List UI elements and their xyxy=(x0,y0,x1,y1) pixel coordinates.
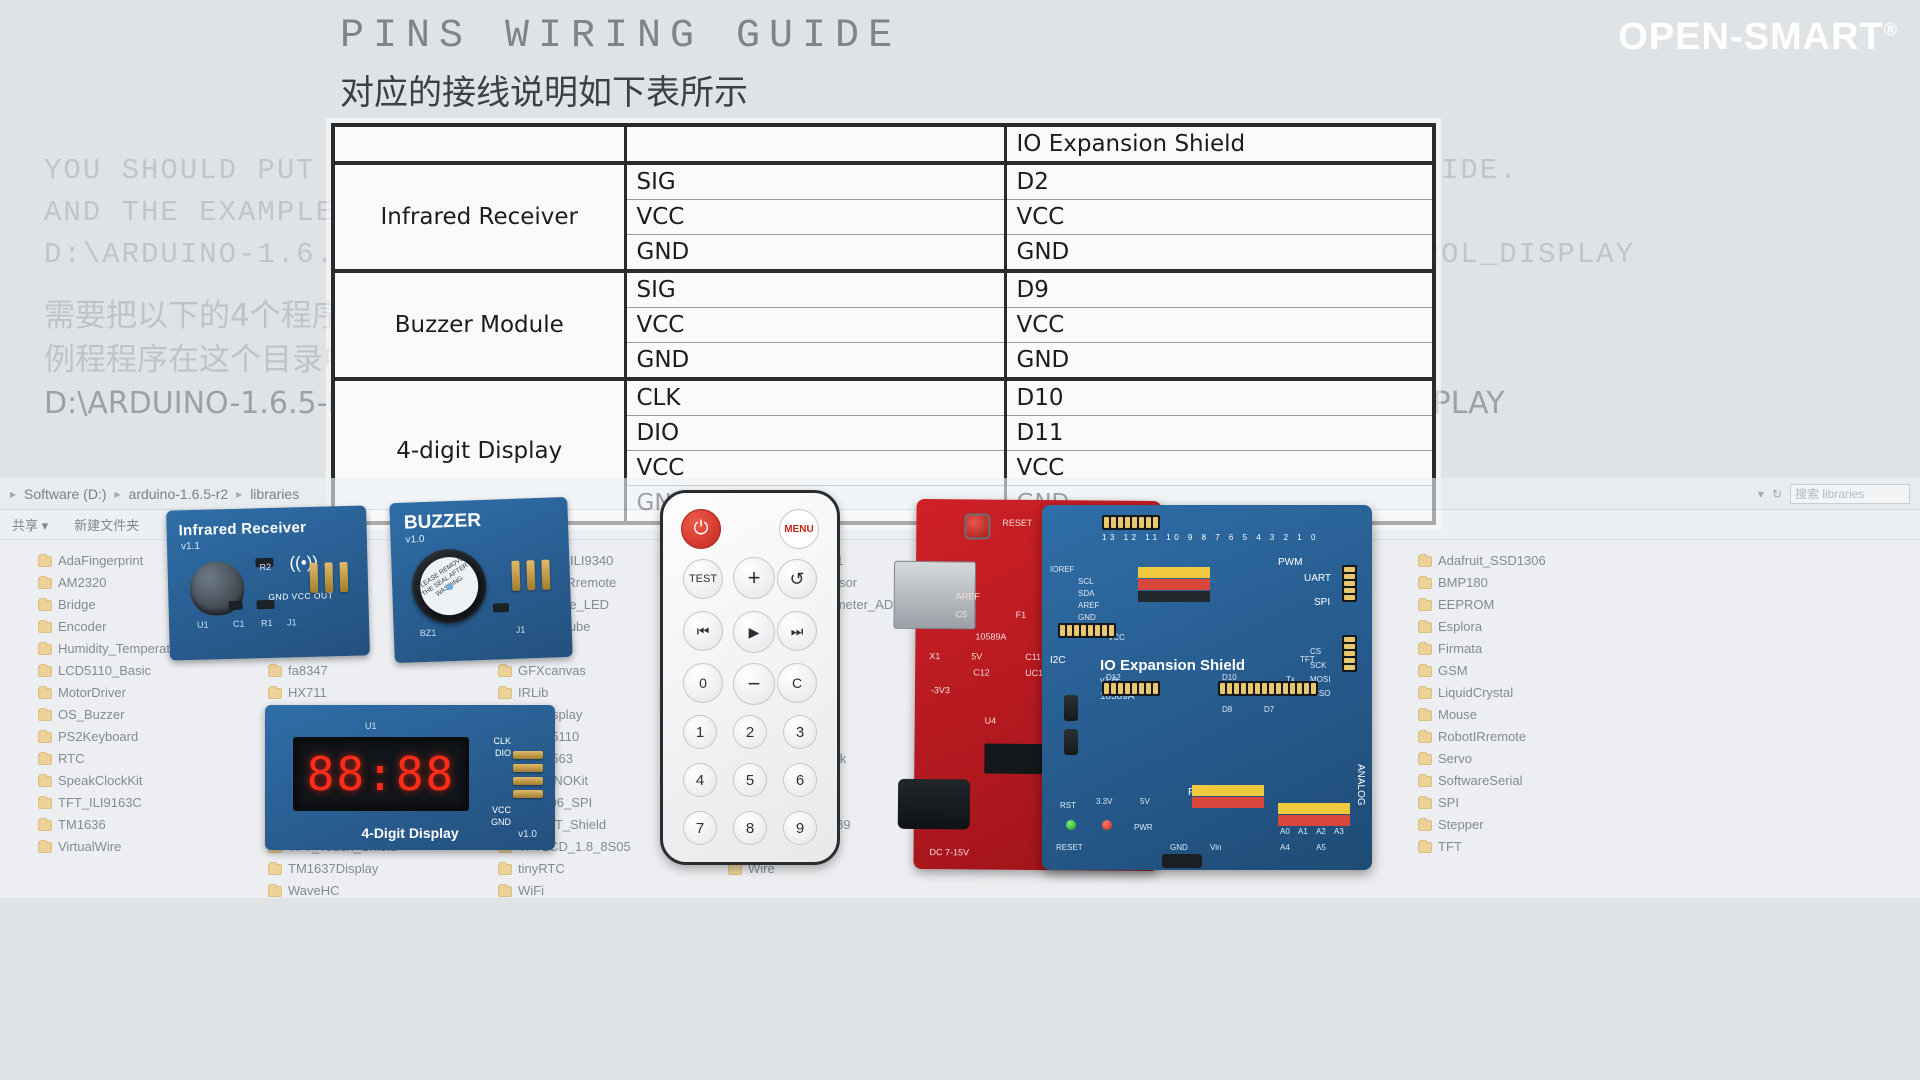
pin xyxy=(339,562,348,592)
label-d7: D7 xyxy=(1264,705,1274,714)
folder-name: LiquidCrystal xyxy=(1438,682,1513,704)
buzzer-module: BUZZER v1.0 PLEASE REMOVE THE SEAL AFTER… xyxy=(389,497,572,663)
pin-slot xyxy=(1332,815,1341,826)
folder-icon xyxy=(1418,754,1432,765)
list-item[interactable]: SoftwareSerial xyxy=(1418,770,1648,792)
folder-icon xyxy=(1418,710,1432,721)
pin xyxy=(1088,625,1093,636)
folder-icon xyxy=(498,886,512,897)
breadcrumb-item-1[interactable]: arduino-1.6.5-r2 xyxy=(129,486,229,502)
header-board: IO Expansion Shield xyxy=(1005,127,1432,163)
folder-name: HX711 xyxy=(288,682,327,704)
c-button[interactable]: C xyxy=(777,663,817,703)
label-a3: A3 xyxy=(1334,827,1344,836)
pin xyxy=(1344,658,1355,663)
pin-slot xyxy=(1278,803,1287,814)
folder-icon xyxy=(38,644,52,655)
label-sda: SDA xyxy=(1078,589,1094,598)
pin xyxy=(1132,517,1137,528)
folder-name: Firmata xyxy=(1438,638,1482,660)
folder-name: fa8347 xyxy=(288,660,328,682)
digital-header-left xyxy=(1102,681,1160,696)
pin xyxy=(324,562,333,592)
folder-name: GFXcanvas xyxy=(518,660,586,682)
ref-u1: U1 xyxy=(197,620,209,630)
folder-name: SpeakClockKit xyxy=(58,770,143,792)
list-item[interactable]: Stepper xyxy=(1418,814,1648,836)
num-button-3[interactable]: 3 xyxy=(783,715,817,749)
label-i2c: I2C xyxy=(1050,655,1066,666)
folder-icon xyxy=(1418,798,1432,809)
list-item[interactable]: Esplora xyxy=(1418,616,1648,638)
ir-board-version: v1.1 xyxy=(181,541,200,552)
digital-header-mid2 xyxy=(1260,681,1318,696)
pin-slot xyxy=(1287,815,1296,826)
pin-slot xyxy=(1156,591,1165,602)
pin xyxy=(1344,567,1355,572)
ref-bz1: BZ1 xyxy=(420,628,437,639)
folder-icon xyxy=(38,666,52,677)
num-button-6[interactable]: 6 xyxy=(783,763,817,797)
ref-j1: J1 xyxy=(287,617,297,627)
pin-slot xyxy=(1246,797,1255,808)
pin xyxy=(1227,683,1232,694)
silk-c11: C11 xyxy=(1025,652,1041,662)
label-3v3: 3.3V xyxy=(1096,797,1112,806)
reset-button[interactable] xyxy=(964,513,990,539)
pin xyxy=(1081,625,1086,636)
list-item[interactable]: Adafruit_SSD1306 xyxy=(1418,550,1648,572)
folder-icon xyxy=(268,688,282,699)
silk-3v3: -3V3 xyxy=(931,685,950,695)
folder-icon xyxy=(38,842,52,853)
num-button-9[interactable]: 9 xyxy=(783,811,817,845)
digital-header-top xyxy=(1102,515,1160,530)
num-button-4[interactable]: 4 xyxy=(683,763,717,797)
pin-slot xyxy=(1147,567,1156,578)
pin xyxy=(1220,683,1225,694)
label-pwm: PWM xyxy=(1278,557,1302,568)
folder-name: TM1636 xyxy=(58,814,106,836)
label-aref: AREF xyxy=(1078,601,1099,610)
pin xyxy=(1262,683,1267,694)
digital-pin-numbers: 13 12 11 10 9 8 7 6 5 4 3 2 1 0 xyxy=(1102,533,1319,542)
pin xyxy=(1060,625,1065,636)
io-expansion-shield-board: 13 12 11 10 9 8 7 6 5 4 3 2 1 0 UART SPI… xyxy=(1042,505,1372,870)
pin-slot xyxy=(1138,579,1147,590)
num-button-1[interactable]: 1 xyxy=(683,715,717,749)
folder-icon xyxy=(38,578,52,589)
label-analog: ANALOG xyxy=(1355,764,1366,806)
folder-icon xyxy=(38,732,52,743)
pin-slot xyxy=(1156,579,1165,590)
pin-slot xyxy=(1156,567,1165,578)
list-item[interactable]: Firmata xyxy=(1418,638,1648,660)
pin-slot xyxy=(1278,815,1287,826)
pin-header xyxy=(309,562,348,593)
folder-icon xyxy=(268,666,282,677)
pin-slot xyxy=(1174,579,1183,590)
board-pin-cell: VCC xyxy=(1005,308,1432,343)
pin xyxy=(1125,517,1130,528)
chevron-down-icon[interactable]: ▾ xyxy=(1758,487,1764,501)
pin xyxy=(513,751,543,759)
toolbar-new-folder-button[interactable]: 新建文件夹 xyxy=(74,515,139,534)
ir-remote-control: ⏻ MENU TEST + ↺ ⏮ ▶ ⏭ 0 − C 123456789 xyxy=(660,490,840,865)
pin-slot xyxy=(1165,591,1174,602)
pin-slot xyxy=(1237,797,1246,808)
num-button-8[interactable]: 8 xyxy=(733,811,767,845)
list-item[interactable]: WaveHC xyxy=(268,880,498,898)
pin xyxy=(1276,683,1281,694)
list-item[interactable]: BMP180 xyxy=(1418,572,1648,594)
pin xyxy=(1248,683,1253,694)
display-title: 4-Digit Display xyxy=(265,825,555,841)
folder-name: TM1637Display xyxy=(288,858,378,880)
pin-slot xyxy=(1219,797,1228,808)
board-pin-cell: D2 xyxy=(1005,163,1432,200)
folder-icon xyxy=(1418,622,1432,633)
label-a4: A4 xyxy=(1280,843,1290,852)
reset-switch[interactable] xyxy=(1162,854,1202,868)
power-yellow-row xyxy=(1192,785,1264,796)
display-version: v1.0 xyxy=(518,829,537,840)
pin-slot xyxy=(1237,785,1246,796)
pin xyxy=(1344,644,1355,649)
breadcrumb-item-2[interactable]: libraries xyxy=(250,486,299,502)
power-button[interactable]: ⏻ xyxy=(681,509,721,549)
pin-cell: SIG xyxy=(625,271,1005,308)
infrared-receiver-module: Infrared Receiver v1.1 ((•)) GND VCC OUT… xyxy=(166,505,370,660)
list-item[interactable]: GSM xyxy=(1418,660,1648,682)
label-gnd: GND xyxy=(1170,843,1188,852)
pin-slot xyxy=(1201,785,1210,796)
search-input[interactable]: 搜索 libraries xyxy=(1790,484,1910,504)
folder-icon xyxy=(268,864,282,875)
pin xyxy=(1104,517,1109,528)
pin xyxy=(1344,637,1355,642)
ir-board-title: Infrared Receiver xyxy=(178,519,306,539)
table-row: 4-digit DisplayCLKD10 xyxy=(335,379,1432,416)
pin xyxy=(1095,625,1100,636)
pin xyxy=(1344,595,1355,600)
folder-icon xyxy=(38,820,52,831)
pin xyxy=(513,764,543,772)
folder-name: WaveHC xyxy=(288,880,340,898)
folder-name: GSM xyxy=(1438,660,1468,682)
silk-dc-rating: DC 7-15V xyxy=(929,847,969,857)
pin-slot xyxy=(1201,797,1210,808)
capacitor-c1 xyxy=(228,601,242,610)
page-title: PINS WIRING GUIDE xyxy=(340,14,901,59)
shield-title: IO Expansion Shield xyxy=(1100,657,1245,674)
pin-cell: VCC xyxy=(625,200,1005,235)
refresh-icon[interactable]: ↻ xyxy=(1772,487,1782,501)
folder-name: PS2Keyboard xyxy=(58,726,138,748)
list-item[interactable]: HX711 xyxy=(268,682,498,704)
pin xyxy=(513,777,543,785)
list-item[interactable]: SPI xyxy=(1418,792,1648,814)
spi-header xyxy=(1342,635,1357,672)
list-item[interactable]: Mouse xyxy=(1418,704,1648,726)
folder-name: EEPROM xyxy=(1438,594,1494,616)
list-item[interactable]: PS2Keyboard xyxy=(38,726,268,748)
pin xyxy=(1283,683,1288,694)
pin-slot xyxy=(1246,785,1255,796)
pin-slot xyxy=(1201,579,1210,590)
list-item[interactable]: Servo xyxy=(1418,748,1648,770)
board-pin-cell: D11 xyxy=(1005,416,1432,451)
num-button-2[interactable]: 2 xyxy=(733,715,767,749)
list-item[interactable]: VirtualWire xyxy=(38,836,268,858)
folder-name: AdaFingerprint xyxy=(58,550,143,572)
buzzer-vent-hole xyxy=(446,582,453,589)
list-item[interactable]: fa8347 xyxy=(268,660,498,682)
pin xyxy=(1102,625,1107,636)
folder-icon xyxy=(498,864,512,875)
pwm-red-row xyxy=(1138,579,1210,590)
pin-slot xyxy=(1210,785,1219,796)
label-a0: A0 xyxy=(1280,827,1290,836)
label-vin: Vin xyxy=(1210,843,1221,852)
chevron-right-icon: ▸ xyxy=(10,487,16,501)
folder-column: Adafruit_SSD1306BMP180EEPROMEsploraFirma… xyxy=(1418,550,1648,898)
folder-icon xyxy=(268,886,282,897)
list-item[interactable]: TFT_ILI9163C xyxy=(38,792,268,814)
pin-slot xyxy=(1201,591,1210,602)
label-d8: D8 xyxy=(1222,705,1232,714)
silk-aref: AREF xyxy=(956,591,980,601)
label-reset: RESET xyxy=(1056,843,1083,852)
list-item[interactable]: LCD5110_Basic xyxy=(38,660,268,682)
list-item[interactable]: RTC xyxy=(38,748,268,770)
pin xyxy=(1146,683,1151,694)
pin xyxy=(1344,665,1355,670)
folder-icon xyxy=(38,600,52,611)
minus-button[interactable]: − xyxy=(733,663,775,705)
pin-slot xyxy=(1314,815,1323,826)
pin xyxy=(1311,683,1316,694)
label-pwr: PWR xyxy=(1134,823,1153,832)
page-subtitle: 对应的接线说明如下表所示 xyxy=(340,65,901,114)
dc-barrel-jack xyxy=(898,779,970,830)
folder-icon xyxy=(1418,578,1432,589)
pin-slot xyxy=(1138,567,1147,578)
label-spi: SPI xyxy=(1314,597,1330,608)
board-pin-cell: D10 xyxy=(1005,379,1432,416)
list-item[interactable]: WiFi xyxy=(498,880,728,898)
pin xyxy=(1290,683,1295,694)
folder-name: AM2320 xyxy=(58,572,106,594)
four-digit-display-module: U1 88:88 CLK DIO VCC GND 4-Digit Display… xyxy=(265,705,555,850)
folder-name: OS_Buzzer xyxy=(58,704,124,726)
pin-slot xyxy=(1192,797,1201,808)
pin-slot xyxy=(1219,785,1228,796)
display-pins-top: CLK DIO xyxy=(493,735,511,759)
module-name-cell: Infrared Receiver xyxy=(335,163,625,271)
pin-slot xyxy=(1183,579,1192,590)
test-button[interactable]: TEST xyxy=(683,559,723,599)
menu-button[interactable]: MENU xyxy=(779,509,819,549)
pin xyxy=(513,790,543,798)
pin-slot xyxy=(1183,567,1192,578)
label-rst: RST xyxy=(1060,801,1076,810)
silk-10589a: 10589A xyxy=(975,631,1006,641)
pin xyxy=(1146,517,1151,528)
board-pin-cell: VCC xyxy=(1005,200,1432,235)
pin-slot xyxy=(1138,591,1147,602)
board-pin-cell: D9 xyxy=(1005,271,1432,308)
silk-c12: C12 xyxy=(973,667,990,677)
pin-cell: GND xyxy=(625,343,1005,380)
label-gnd2: GND xyxy=(1078,613,1096,622)
table-row: Buzzer ModuleSIGD9 xyxy=(335,271,1432,308)
folder-name: Mouse xyxy=(1438,704,1477,726)
label-cs: CS xyxy=(1310,647,1321,656)
folder-name: Encoder xyxy=(58,616,106,638)
list-item[interactable]: TFT xyxy=(1418,836,1648,858)
folder-icon xyxy=(1418,600,1432,611)
folder-icon xyxy=(1418,732,1432,743)
pin-cell: CLK xyxy=(625,379,1005,416)
list-item[interactable]: SpeakClockKit xyxy=(38,770,268,792)
prev-button[interactable]: ⏮ xyxy=(683,611,723,651)
capacitor xyxy=(1064,695,1078,721)
ref-u1: U1 xyxy=(365,721,377,731)
pin-slot xyxy=(1255,797,1264,808)
pin-slot xyxy=(1228,797,1237,808)
pin-slot xyxy=(1228,785,1237,796)
list-item[interactable]: RobotIRremote xyxy=(1418,726,1648,748)
seven-segment-screen: 88:88 xyxy=(293,737,469,811)
pin-slot xyxy=(1314,803,1323,814)
pin-slot xyxy=(1296,815,1305,826)
pin-slot xyxy=(1305,815,1314,826)
label-uart: UART xyxy=(1304,573,1331,584)
pin xyxy=(1109,625,1114,636)
label-ioref: IOREF xyxy=(1050,565,1074,574)
pin-slot xyxy=(1147,579,1156,590)
pin xyxy=(1139,683,1144,694)
pin xyxy=(1153,517,1158,528)
toolbar-share-button[interactable]: 共享 ▾ xyxy=(12,515,48,534)
folder-icon xyxy=(1418,556,1432,567)
pin-slot xyxy=(1174,567,1183,578)
pin-slot xyxy=(1287,803,1296,814)
folder-name: SPI xyxy=(1438,792,1459,814)
pin xyxy=(1304,683,1309,694)
zero-button[interactable]: 0 xyxy=(683,663,723,703)
folder-name: VirtualWire xyxy=(58,836,121,858)
silk-reset: RESET xyxy=(1002,518,1032,528)
pin-slot xyxy=(1255,785,1264,796)
pin xyxy=(1104,683,1109,694)
smd-part xyxy=(493,603,509,613)
segment-value: 88:88 xyxy=(307,751,455,797)
list-item[interactable]: TM1637Display xyxy=(268,858,498,880)
folder-icon xyxy=(1418,820,1432,831)
pin-cell: DIO xyxy=(625,416,1005,451)
folder-icon xyxy=(1418,666,1432,677)
table-header-row: IO Expansion Shield xyxy=(335,127,1432,163)
buzzer-version: v1.0 xyxy=(405,534,424,546)
capacitor xyxy=(1064,729,1078,755)
play-button[interactable]: ▶ xyxy=(733,611,775,653)
pin-slot xyxy=(1192,785,1201,796)
pin xyxy=(1153,683,1158,694)
pin xyxy=(1344,574,1355,579)
folder-name: LCD5110_Basic xyxy=(58,660,151,682)
num-button-5[interactable]: 5 xyxy=(733,763,767,797)
label-sck: SCK xyxy=(1310,661,1326,670)
pin xyxy=(1234,683,1239,694)
label-a2: A2 xyxy=(1316,827,1326,836)
pin xyxy=(1125,683,1130,694)
folder-icon xyxy=(1418,688,1432,699)
pin xyxy=(1111,517,1116,528)
ref-c1: C1 xyxy=(233,619,245,629)
folder-name: MotorDriver xyxy=(58,682,126,704)
pin-slot xyxy=(1192,567,1201,578)
pin xyxy=(1118,683,1123,694)
pin-slot xyxy=(1192,591,1201,602)
breadcrumb-item-0[interactable]: Software (D:) xyxy=(24,486,106,502)
folder-icon xyxy=(1418,776,1432,787)
plus-button[interactable]: + xyxy=(733,557,775,599)
analog-yellow-row xyxy=(1278,803,1350,814)
wiring-table: IO Expansion ShieldInfrared ReceiverSIGD… xyxy=(335,127,1432,521)
power-led xyxy=(1066,820,1076,830)
chevron-right-icon: ▸ xyxy=(236,487,242,501)
label-a5: A5 xyxy=(1316,843,1326,852)
folder-icon xyxy=(498,688,512,699)
label-scl: SCL xyxy=(1078,577,1094,586)
back-button[interactable]: ↺ xyxy=(777,559,817,599)
ref-r1: R1 xyxy=(261,618,273,628)
list-item[interactable]: LiquidCrystal xyxy=(1418,682,1648,704)
folder-icon xyxy=(38,710,52,721)
list-item[interactable]: MotorDriver xyxy=(38,682,268,704)
folder-name: RTC xyxy=(58,748,84,770)
pin xyxy=(511,561,520,591)
pin xyxy=(1074,625,1079,636)
pin-header xyxy=(513,751,543,798)
list-item[interactable]: TM1636 xyxy=(38,814,268,836)
buzzer-title: BUZZER xyxy=(404,510,482,535)
folder-icon xyxy=(38,622,52,633)
next-button[interactable]: ⏭ xyxy=(777,611,817,651)
pin-slot xyxy=(1323,803,1332,814)
folder-icon xyxy=(1418,644,1432,655)
pin-slot xyxy=(1165,579,1174,590)
header-pin xyxy=(625,127,1005,163)
folder-name: Adafruit_SSD1306 xyxy=(1438,550,1546,572)
folder-name: Stepper xyxy=(1438,814,1484,836)
pin-slot xyxy=(1305,803,1314,814)
folder-name: TFT xyxy=(1438,836,1462,858)
pin-slot xyxy=(1341,815,1350,826)
buzzer-can: PLEASE REMOVE THE SEAL AFTER WASHING xyxy=(411,548,488,625)
folder-icon xyxy=(38,556,52,567)
num-button-7[interactable]: 7 xyxy=(683,811,717,845)
pwm-black-row xyxy=(1138,591,1210,602)
list-item[interactable]: EEPROM xyxy=(1418,594,1648,616)
label-a1: A1 xyxy=(1298,827,1308,836)
pin xyxy=(1132,683,1137,694)
pin xyxy=(1344,588,1355,593)
folder-icon xyxy=(38,798,52,809)
list-item[interactable]: OS_Buzzer xyxy=(38,704,268,726)
